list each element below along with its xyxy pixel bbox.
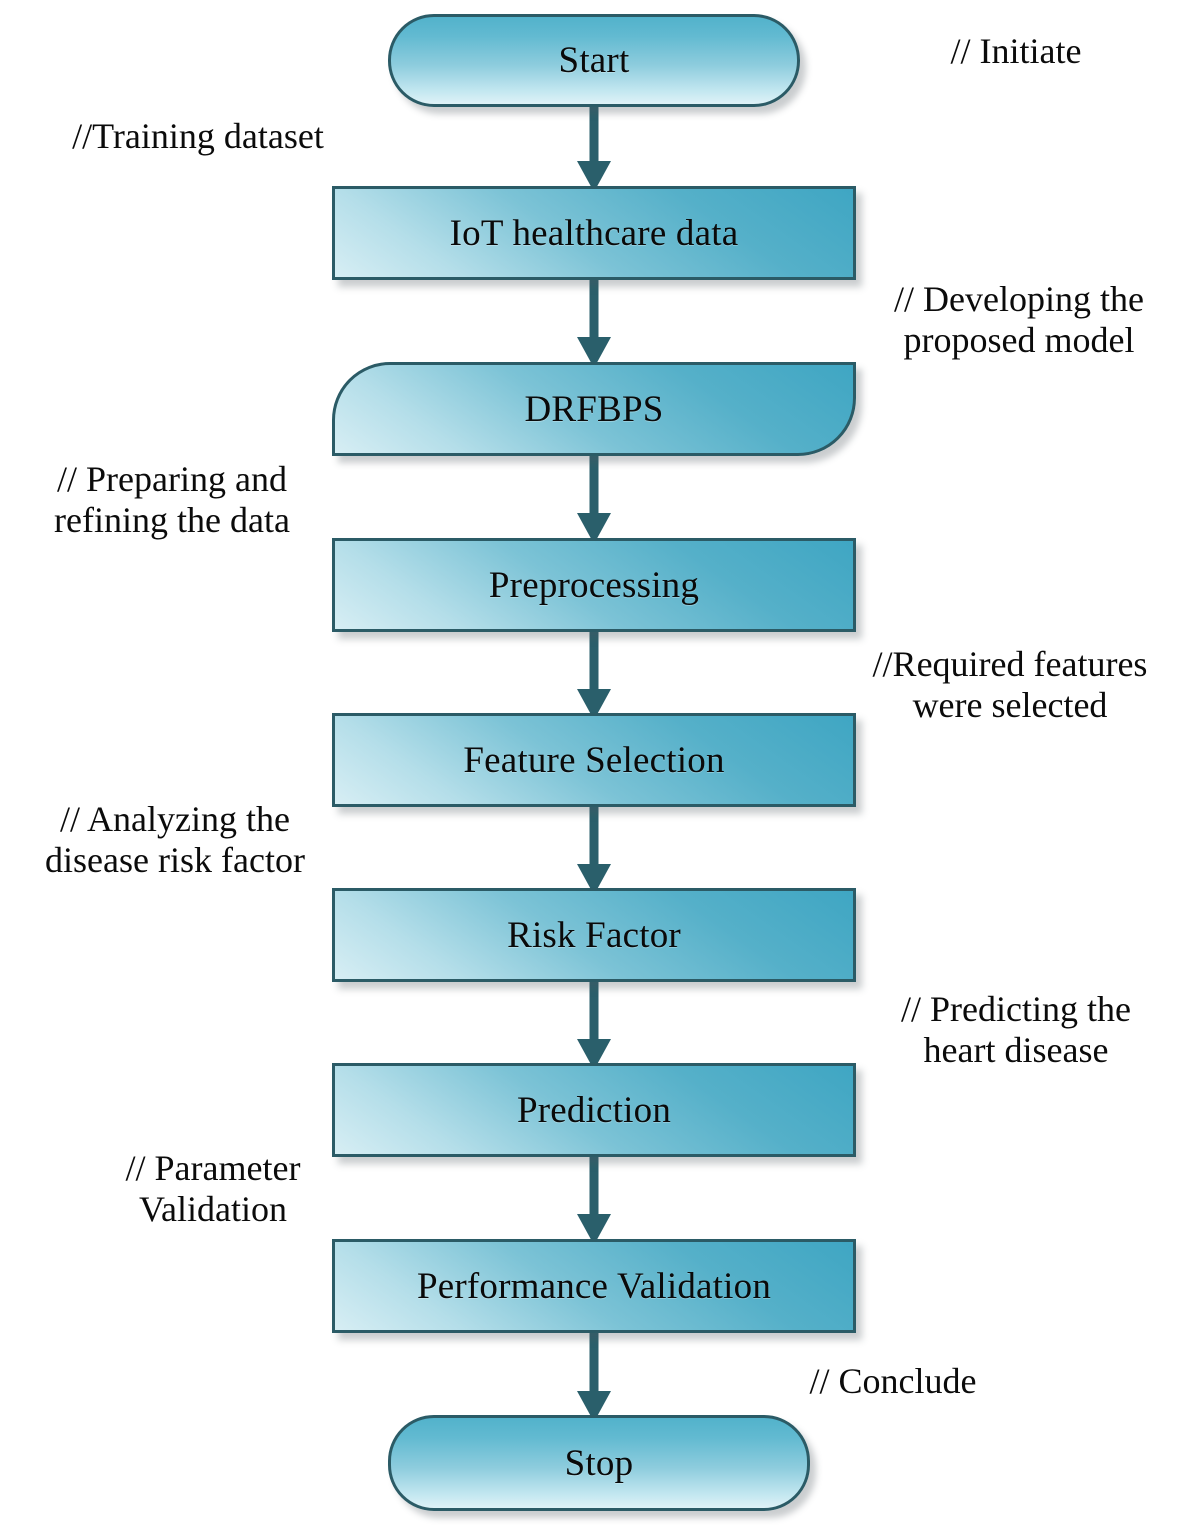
- arrow-shaft: [590, 1153, 599, 1214]
- annotation-parameter-validation: // Parameter Validation: [96, 1148, 330, 1230]
- arrow-iot-data-to-drfbps: [568, 276, 620, 368]
- node-drfbps-label: DRFBPS: [524, 391, 663, 428]
- node-iot-healthcare-data-label: IoT healthcare data: [450, 215, 739, 252]
- arrow-shaft: [590, 100, 599, 161]
- arrow-preprocessing-to-feature-selection: [568, 628, 620, 720]
- annotation-predicting-heart-disease: // Predicting the heart disease: [856, 989, 1176, 1071]
- arrow-start-to-iot-data: [568, 100, 620, 192]
- node-feature-selection-label: Feature Selection: [463, 742, 724, 779]
- node-stop-label: Stop: [565, 1445, 634, 1482]
- flowchart-canvas: Start IoT healthcare data DRFBPS Preproc…: [0, 0, 1187, 1525]
- arrow-performance-validation-to-stop: [568, 1330, 620, 1422]
- arrow-shaft: [590, 628, 599, 689]
- node-performance-validation[interactable]: Performance Validation: [332, 1239, 856, 1333]
- node-risk-factor-label: Risk Factor: [507, 917, 681, 954]
- node-feature-selection[interactable]: Feature Selection: [332, 713, 856, 807]
- node-preprocessing-label: Preprocessing: [489, 567, 699, 604]
- arrow-shaft: [590, 276, 599, 337]
- node-iot-healthcare-data[interactable]: IoT healthcare data: [332, 186, 856, 280]
- arrow-risk-factor-to-prediction: [568, 978, 620, 1070]
- arrow-prediction-to-performance-validation: [568, 1153, 620, 1245]
- arrow-shaft: [590, 452, 599, 513]
- node-prediction[interactable]: Prediction: [332, 1063, 856, 1157]
- arrow-feature-selection-to-risk-factor: [568, 803, 620, 895]
- arrow-shaft: [590, 1330, 599, 1391]
- node-start-label: Start: [559, 42, 630, 79]
- node-performance-validation-label: Performance Validation: [417, 1268, 771, 1305]
- node-drfbps[interactable]: DRFBPS: [332, 362, 856, 456]
- annotation-initiate: // Initiate: [866, 31, 1166, 72]
- node-stop[interactable]: Stop: [388, 1415, 810, 1511]
- node-start[interactable]: Start: [388, 14, 800, 107]
- annotation-training-dataset: //Training dataset: [30, 116, 366, 157]
- annotation-analyzing-disease-risk-factor: // Analyzing the disease risk factor: [12, 799, 338, 881]
- annotation-developing-proposed-model: // Developing the proposed model: [858, 279, 1180, 361]
- node-risk-factor[interactable]: Risk Factor: [332, 888, 856, 982]
- annotation-required-features-selected: //Required features were selected: [838, 644, 1182, 726]
- annotation-conclude: // Conclude: [778, 1361, 1008, 1402]
- arrow-shaft: [590, 803, 599, 864]
- node-preprocessing[interactable]: Preprocessing: [332, 538, 856, 632]
- annotation-preparing-refining-data: // Preparing and refining the data: [14, 459, 330, 541]
- arrow-drfbps-to-preprocessing: [568, 452, 620, 544]
- node-prediction-label: Prediction: [517, 1092, 671, 1129]
- arrow-shaft: [590, 978, 599, 1039]
